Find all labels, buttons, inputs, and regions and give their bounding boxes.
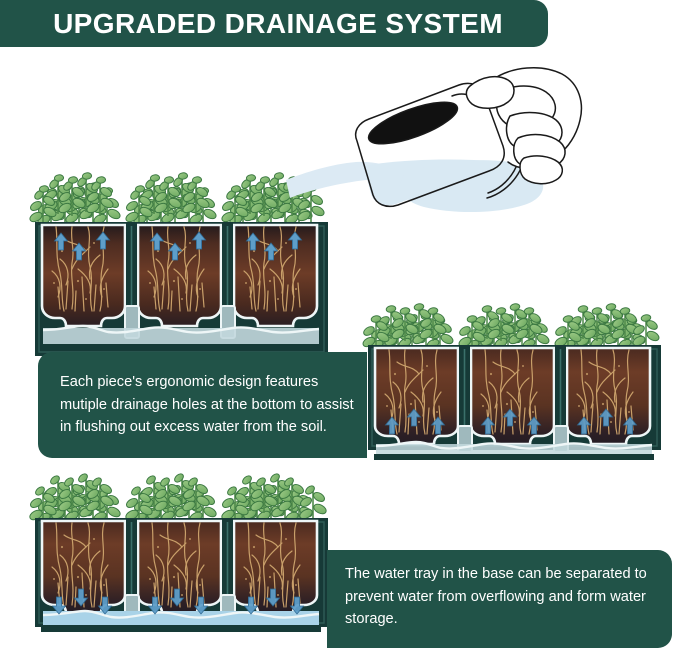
callout-water-tray-text: The water tray in the base can be separa…	[345, 563, 658, 631]
planter-illustration-bottom	[33, 487, 330, 635]
plants-row	[361, 303, 660, 352]
callout-drainage-holes: Each piece's ergonomic design features m…	[38, 352, 367, 458]
page-title-banner: UPGRADED DRAINAGE SYSTEM	[0, 0, 548, 47]
planter-illustration-middle	[366, 322, 663, 464]
water-tray	[41, 326, 321, 350]
water-tray	[374, 442, 654, 460]
infographic-canvas: UPGRADED DRAINAGE SYSTEM	[0, 0, 679, 648]
soil-cells	[375, 348, 650, 444]
plants-row	[28, 472, 328, 525]
callout-water-tray: The water tray in the base can be separa…	[327, 550, 672, 648]
callout-drainage-holes-text: Each piece's ergonomic design features m…	[60, 371, 357, 439]
page-title: UPGRADED DRAINAGE SYSTEM	[53, 10, 503, 38]
water-tray-filled	[41, 611, 321, 632]
watering-can-illustration	[284, 62, 584, 227]
soil-cells	[42, 225, 317, 326]
plants-row	[28, 172, 325, 228]
